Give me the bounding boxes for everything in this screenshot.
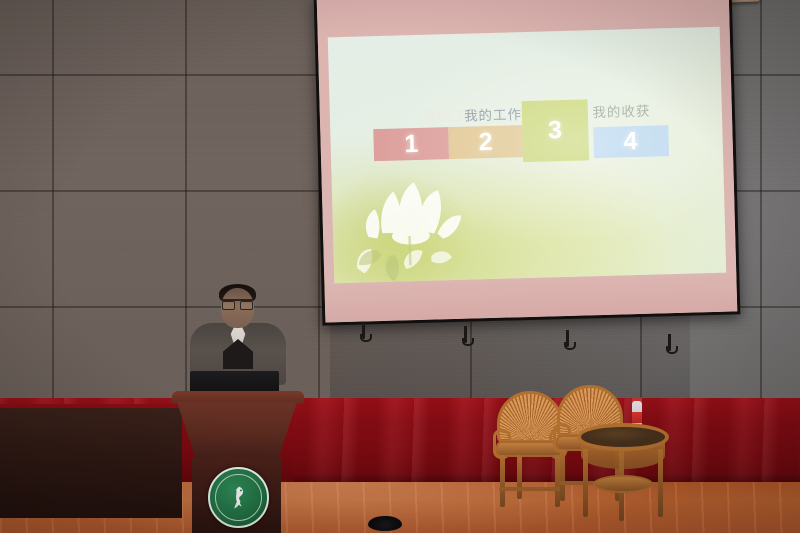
slide-block-number: 4 [623, 129, 638, 154]
screen-hook [362, 322, 365, 339]
slide-block-number: 2 [478, 130, 493, 155]
institution-emblem [208, 467, 269, 528]
screen-hook [464, 326, 467, 343]
chair-leg [500, 455, 505, 507]
table-leg [583, 449, 588, 517]
podium-body [177, 402, 297, 460]
slide-heading-2: 我的工作 [464, 110, 522, 125]
slide-block-number: 3 [548, 118, 563, 143]
slide-block-number: 1 [404, 132, 419, 157]
chair-leg [560, 449, 565, 501]
slide-heading-4: 我的收获 [592, 106, 650, 121]
eyeglasses-icon [222, 299, 253, 309]
slide-block-1: 1 [374, 127, 450, 162]
floor-object [368, 516, 402, 531]
stage-side-cabinet [0, 408, 182, 518]
crane-bird-icon [229, 484, 248, 511]
seating-area [495, 381, 670, 521]
slide-block-3: 3 [522, 100, 589, 162]
table-lower-shelf [593, 475, 653, 493]
projection-screen: 我的工作 我的工作 我的感受 我的收获 1 2 3 4 [314, 0, 741, 326]
chair-stretcher [499, 487, 561, 491]
slide-block-2: 2 [449, 125, 523, 159]
presentation-hall-photo: 我的工作 我的工作 我的感受 我的收获 1 2 3 4 [0, 0, 800, 533]
table-leg [658, 449, 663, 517]
table-top [577, 423, 669, 451]
screen-hook [566, 330, 569, 347]
presentation-slide: 我的工作 我的工作 我的感受 我的收获 1 2 3 4 [328, 27, 726, 284]
rattan-round-table [577, 423, 669, 518]
screen-hook [668, 334, 671, 351]
slide-nav-row: 我的工作 我的工作 我的感受 我的收获 1 2 3 4 [373, 101, 688, 183]
bottle-label [632, 412, 642, 423]
podium-area [168, 283, 308, 533]
slide-block-4: 4 [593, 125, 669, 158]
chair-leg [517, 455, 522, 499]
screen-surface: 我的工作 我的工作 我的感受 我的收获 1 2 3 4 [317, 0, 738, 323]
